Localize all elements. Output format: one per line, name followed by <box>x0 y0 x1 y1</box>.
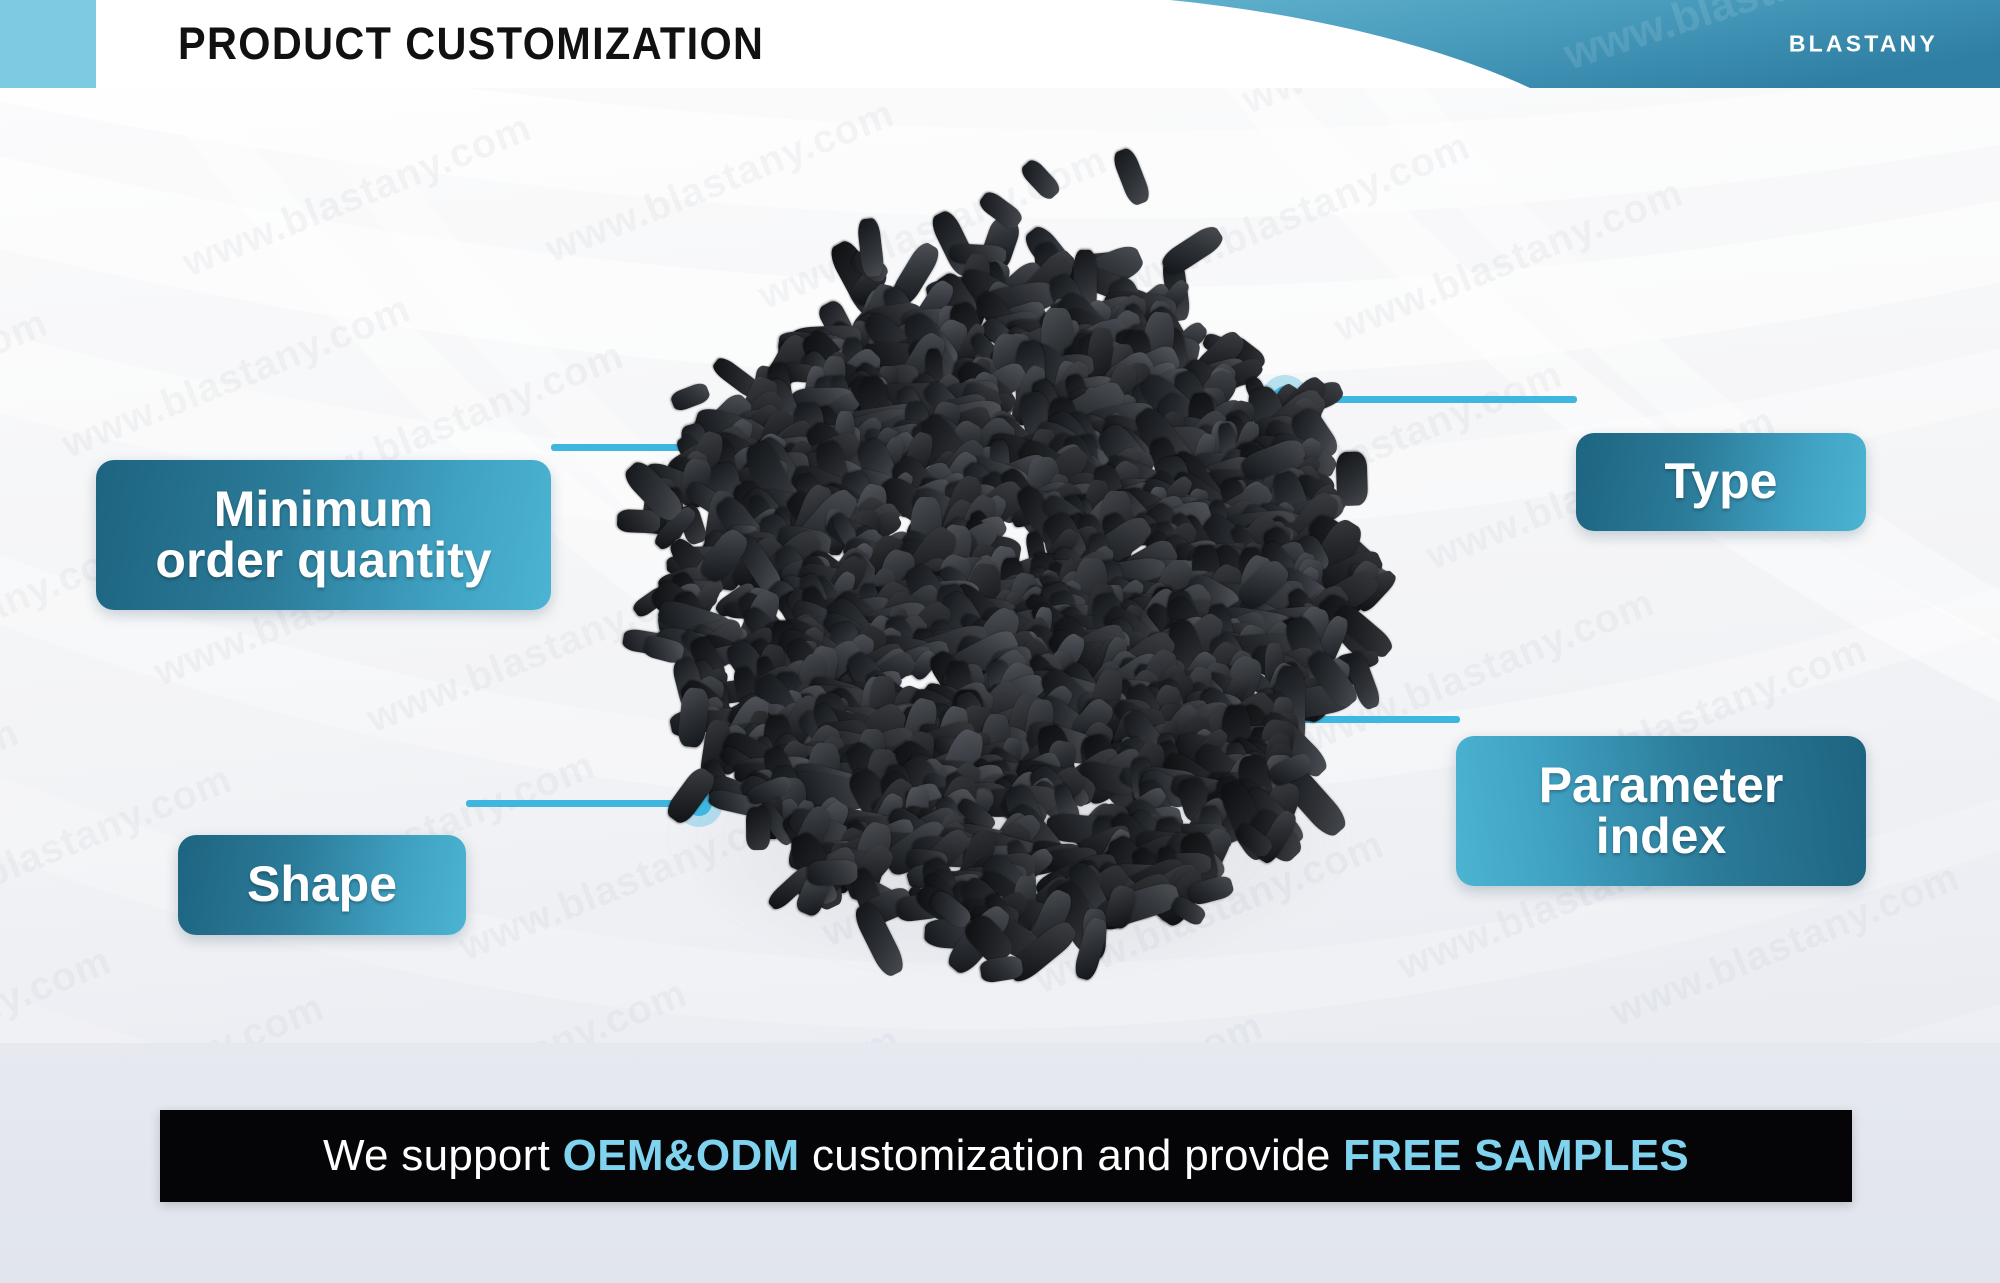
callout-type[interactable]: Type <box>1576 433 1866 531</box>
product-pellet <box>1018 157 1063 203</box>
brand-logo-text: BLASTANY <box>1789 31 1938 58</box>
footer-promo-banner: We support OEM&ODM customization and pro… <box>160 1110 1852 1202</box>
product-pellet <box>1110 146 1152 208</box>
product-image-activated-carbon <box>560 128 1460 1008</box>
callout-line-2: order quantity <box>155 535 491 587</box>
page-title: PRODUCT CUSTOMIZATION <box>178 18 764 70</box>
page-header: PRODUCT CUSTOMIZATION www.blastany.c BLA… <box>0 0 2000 88</box>
header-accent-block <box>0 0 96 88</box>
footer-highlight-oem-odm: OEM&ODM <box>563 1131 800 1180</box>
callout-parameter-index[interactable]: Parameter index <box>1456 736 1866 886</box>
product-pellet <box>745 807 769 850</box>
callout-line-1: Parameter <box>1539 760 1784 812</box>
footer-promo-text: We support OEM&ODM customization and pro… <box>323 1131 1689 1181</box>
content-stage: www.blastany.comwww.blastany.comwww.blas… <box>0 88 2000 1283</box>
footer-text-part2: customization and provide <box>799 1131 1343 1180</box>
product-pellet <box>1159 222 1227 279</box>
callout-line-1: Shape <box>247 859 397 911</box>
callout-shape[interactable]: Shape <box>178 835 466 935</box>
footer-text-part1: We support <box>323 1131 563 1180</box>
callout-minimum-order-quantity[interactable]: Minimum order quantity <box>96 460 551 610</box>
callout-line-1: Minimum <box>155 484 491 536</box>
callout-line-1: Type <box>1665 456 1778 508</box>
footer-highlight-free-samples: FREE SAMPLES <box>1343 1131 1689 1180</box>
callout-line-2: index <box>1539 811 1784 863</box>
product-pellet <box>807 859 858 886</box>
